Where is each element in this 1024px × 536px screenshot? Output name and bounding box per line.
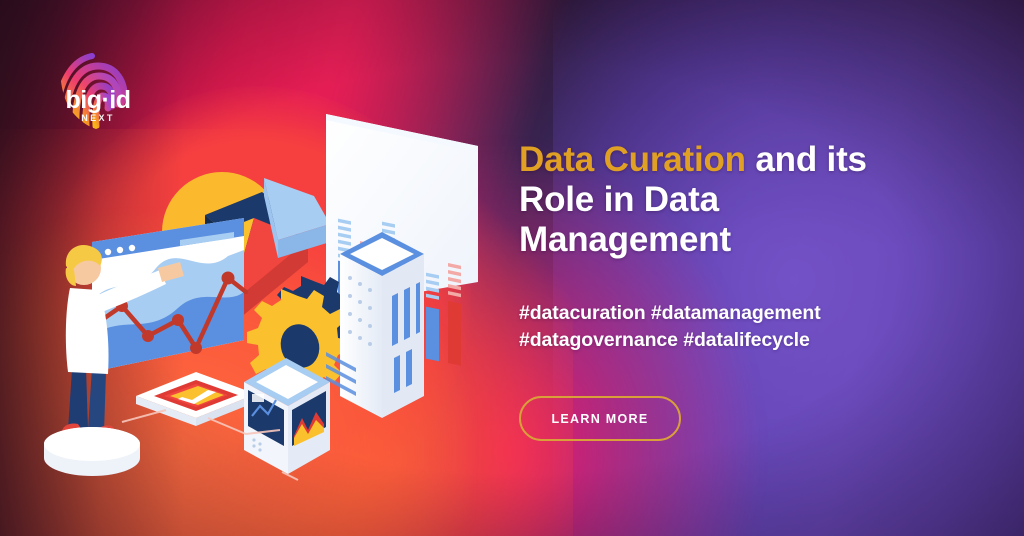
checkmark-plate xyxy=(136,372,256,426)
learn-more-button[interactable]: LEARN MORE xyxy=(519,396,681,441)
headline-highlight: Data Curation xyxy=(519,140,746,179)
text-content: Data Curation and its Role in Data Manag… xyxy=(519,140,939,353)
page-title: Data Curation and its Role in Data Manag… xyxy=(519,140,939,260)
hashtag-line-2: #datagovernance #datalifecycle xyxy=(519,327,939,354)
data-cube-monitor xyxy=(244,358,330,474)
marketing-banner: big·id NEXT xyxy=(0,0,1024,536)
data-analytics-illustration xyxy=(30,100,510,500)
hashtag-block: #datacuration #datamanagement #datagover… xyxy=(519,300,939,354)
server-tower xyxy=(326,232,424,418)
hashtag-line-1: #datacuration #datamanagement xyxy=(519,300,939,327)
